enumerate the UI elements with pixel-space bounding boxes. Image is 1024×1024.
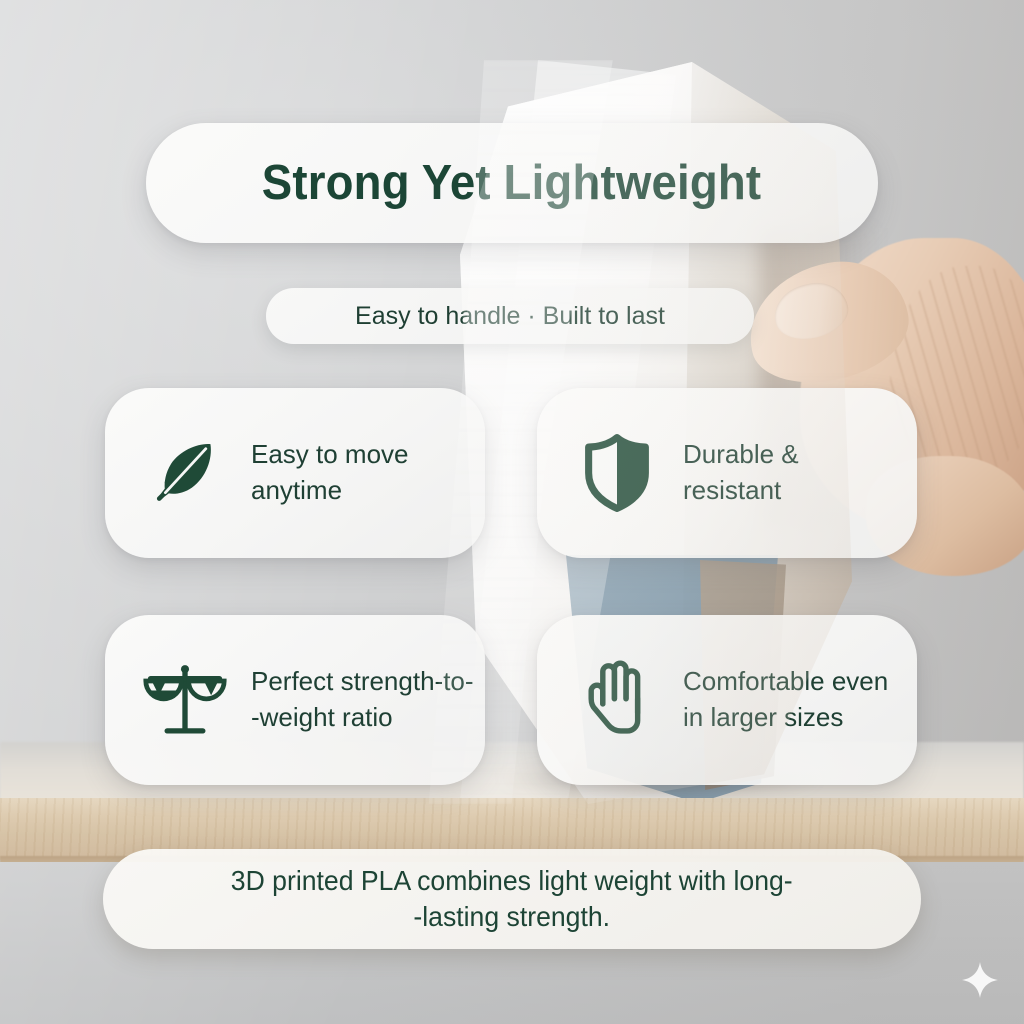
feature-card-label: Perfect strength-to- -weight ratio <box>251 664 474 736</box>
footer-pill: 3D printed PLA combines light weight wit… <box>103 849 921 949</box>
feature-label-line-1: Comfortable even <box>683 664 888 700</box>
feature-label-line-2: -weight ratio <box>251 700 474 736</box>
sparkle-icon <box>958 958 1002 1002</box>
feature-label-line-1: Durable & <box>683 437 799 473</box>
feature-card-easy-to-move[interactable]: Easy to move anytime <box>105 388 485 558</box>
feature-card-strength-to-weight[interactable]: Perfect strength-to- -weight ratio <box>105 615 485 785</box>
feature-card-label: Comfortable even in larger sizes <box>683 664 888 736</box>
balance-scale-icon <box>139 662 231 738</box>
title-pill: Strong Yet Lightweight <box>146 123 878 243</box>
footer-caption: 3D printed PLA combines light weight wit… <box>231 863 793 936</box>
page-subtitle: Easy to handle · Built to last <box>355 302 665 331</box>
feature-label-line-2: anytime <box>251 473 409 509</box>
footer-line-2: -lasting strength. <box>231 899 793 935</box>
feature-label-line-2: in larger sizes <box>683 700 888 736</box>
feature-card-comfortable[interactable]: Comfortable even in larger sizes <box>537 615 917 785</box>
feature-card-label: Durable & resistant <box>683 437 799 509</box>
shield-icon <box>571 434 663 512</box>
infographic-canvas: Strong Yet Lightweight Easy to handle · … <box>0 0 1024 1024</box>
feature-card-durable[interactable]: Durable & resistant <box>537 388 917 558</box>
open-hand-icon <box>571 660 663 740</box>
feather-icon <box>139 436 231 510</box>
feature-label-line-1: Easy to move <box>251 437 409 473</box>
footer-line-1: 3D printed PLA combines light weight wit… <box>231 863 793 899</box>
feature-label-line-1: Perfect strength-to- <box>251 664 474 700</box>
subtitle-pill: Easy to handle · Built to last <box>266 288 754 344</box>
feature-label-line-2: resistant <box>683 473 799 509</box>
feature-card-label: Easy to move anytime <box>251 437 409 509</box>
page-title: Strong Yet Lightweight <box>262 155 761 211</box>
